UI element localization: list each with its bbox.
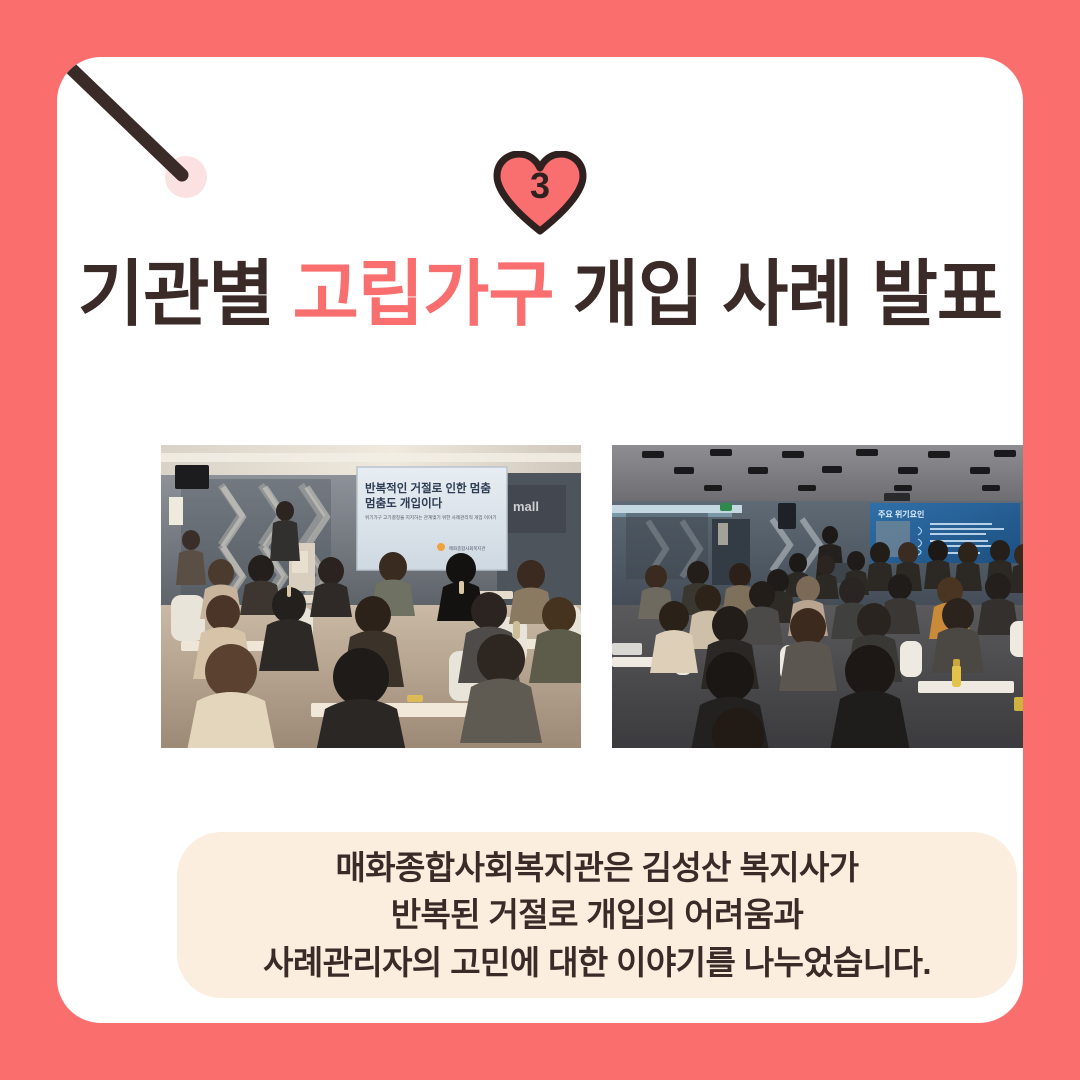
white-card: 3 기관별 고립가구 개입 사례 발표 xyxy=(57,57,1023,1023)
title-segment-1: 기관별 xyxy=(78,255,293,335)
caption-line-3: 사례관리자의 고민에 대한 이야기를 나누었습니다. xyxy=(263,939,931,987)
photo-gallery: mall 반복적인 거절로 인한 멈춤 멈춤도 개입이다 위기가구 고기결정을 … xyxy=(161,445,1023,748)
photo-right-illustration: 주요 위기요인 xyxy=(612,445,1023,748)
page-title: 기관별 고립가구 개입 사례 발표 xyxy=(57,253,1023,338)
photo-right-audience: 주요 위기요인 xyxy=(612,445,1023,748)
step-badge: 3 xyxy=(57,151,1023,235)
poster-canvas: 3 기관별 고립가구 개입 사례 발표 xyxy=(0,0,1080,1080)
caption-line-2: 반복된 거절로 개입의 어려움과 xyxy=(391,891,804,939)
svg-text:멈춤도 개입이다: 멈춤도 개입이다 xyxy=(365,496,443,510)
caption-panel: 매화종합사회복지관은 김성산 복지사가 반복된 거절로 개입의 어려움과 사례관… xyxy=(177,832,1017,998)
caption-line-1: 매화종합사회복지관은 김성산 복지사가 xyxy=(335,844,858,892)
svg-text:매화종합사회복지관: 매화종합사회복지관 xyxy=(449,545,485,552)
badge-number: 3 xyxy=(493,168,587,204)
photo-left-illustration: mall 반복적인 거절로 인한 멈춤 멈춤도 개입이다 위기가구 고기결정을 … xyxy=(161,445,581,748)
svg-text:위기가구 고기결정을 지지하는 관계맺기 위한 사례관리적: 위기가구 고기결정을 지지하는 관계맺기 위한 사례관리적 개입 이야기 xyxy=(365,514,497,521)
photo-left-presentation: mall 반복적인 거절로 인한 멈춤 멈춤도 개입이다 위기가구 고기결정을 … xyxy=(161,445,581,748)
svg-text:주요 위기요인: 주요 위기요인 xyxy=(878,509,924,519)
title-segment-2: 개입 사례 발표 xyxy=(554,255,1002,335)
svg-text:반복적인 거절로 인한 멈춤: 반복적인 거절로 인한 멈춤 xyxy=(365,481,491,495)
title-segment-accent: 고립가구 xyxy=(293,255,554,335)
svg-text:mall: mall xyxy=(513,499,539,514)
